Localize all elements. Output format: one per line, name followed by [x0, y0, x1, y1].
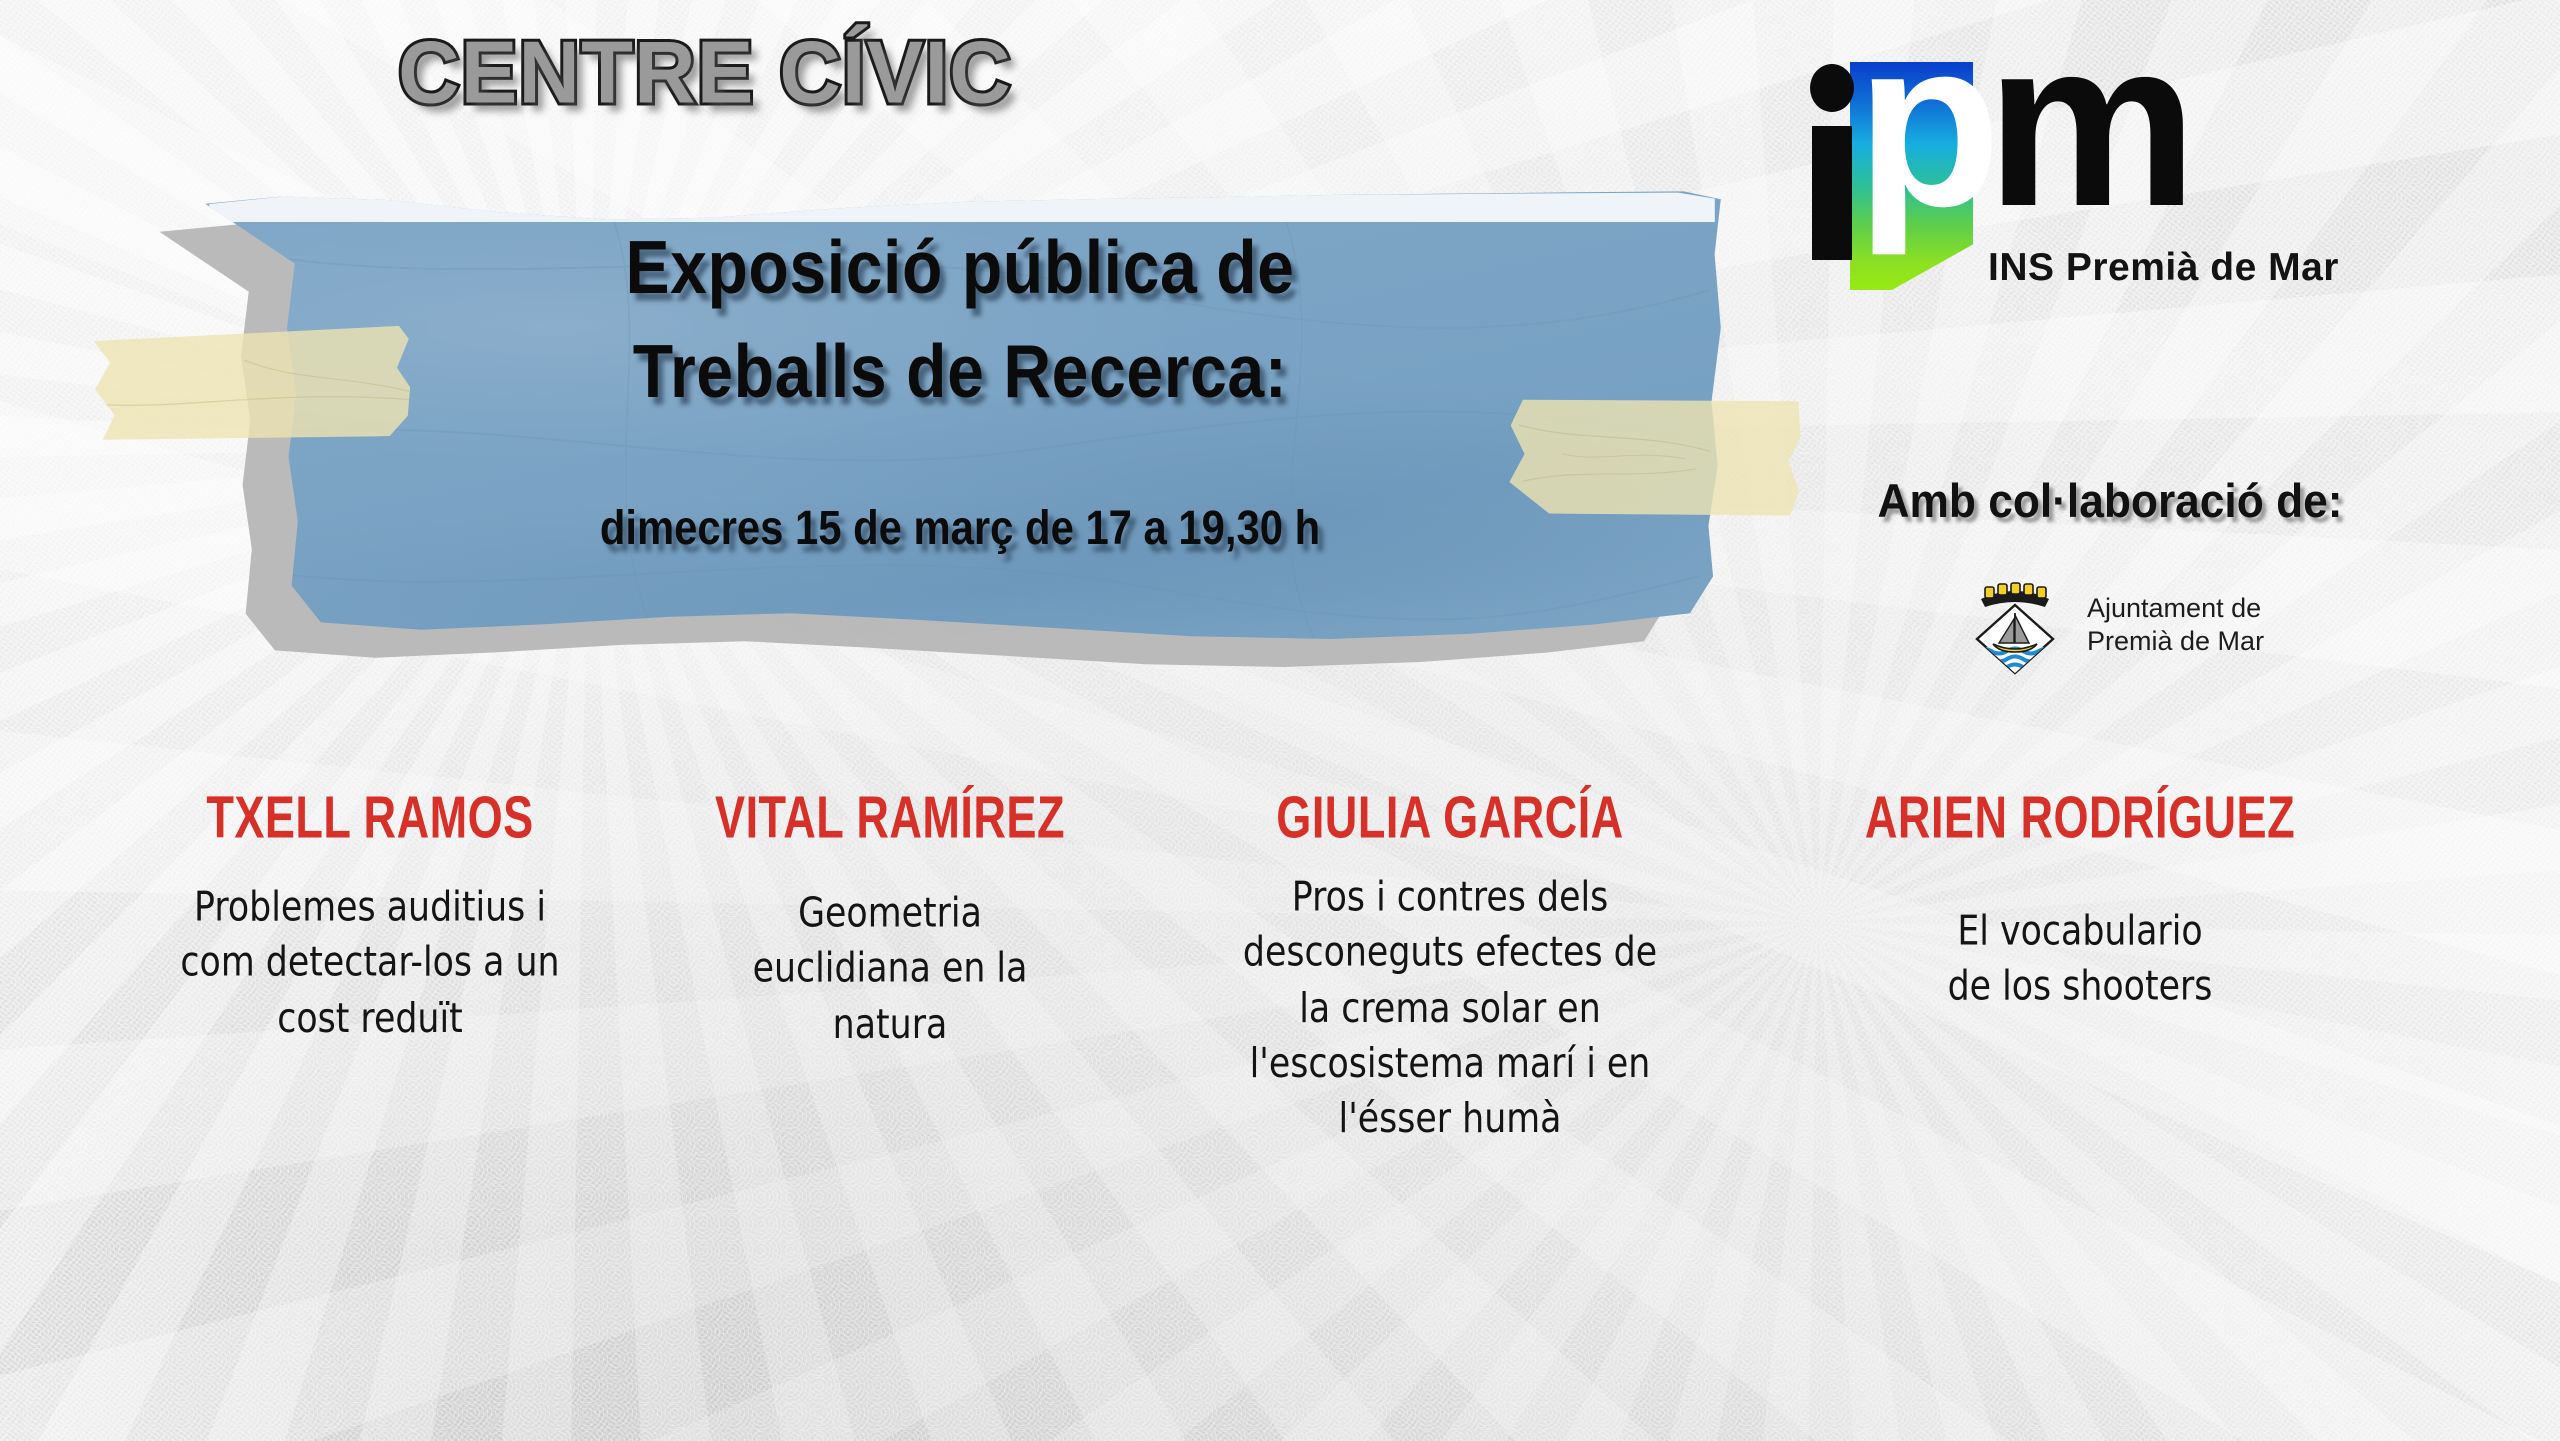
projects-list: TXELL RAMOS Problemes auditius i com det…: [90, 790, 2490, 1122]
ajuntament-label: Ajuntament de Premià de Mar: [2087, 592, 2264, 658]
project-title: El vocabulario de los shooters: [1789, 904, 2372, 1015]
project-author: VITAL RAMÍREZ: [669, 784, 1111, 852]
ajuntament-crest-icon: [1965, 573, 2065, 677]
ajuntament-logo: Ajuntament de Premià de Mar: [1965, 572, 2415, 678]
masking-tape-right: [1509, 395, 1802, 520]
ipm-logo-subtitle: INS Premià de Mar: [1988, 246, 2339, 290]
banner-text-block: Exposició pública de Treballs de Recerca…: [190, 190, 1730, 650]
project-author: TXELL RAMOS: [112, 784, 627, 852]
project-column: TXELL RAMOS Problemes auditius i com det…: [90, 790, 650, 1122]
project-column: ARIEN RODRÍGUEZ El vocabulario de los sh…: [1770, 790, 2390, 1122]
tape-texture-left: [94, 326, 412, 445]
project-column: GIULIA GARCÍA Pros i contres dels descon…: [1130, 790, 1770, 1122]
project-title: Geometria euclidiana en la natura: [664, 886, 1115, 1052]
ipm-letter-i-dot: [1810, 64, 1854, 112]
banner-line-1: Exposició pública de: [82, 224, 1838, 311]
ipm-logo: p m INS Premià de Mar: [1790, 40, 2410, 330]
project-title: Pros i contres dels desconeguts efectes …: [1149, 870, 1751, 1147]
project-column: VITAL RAMÍREZ Geometria euclidiana en la…: [650, 790, 1130, 1122]
project-author: GIULIA GARCÍA: [1156, 784, 1745, 852]
masking-tape-left: [94, 326, 412, 445]
project-author: ARIEN RODRÍGUEZ: [1795, 784, 2365, 852]
project-title: Problemes auditius i com detectar-los a …: [107, 880, 633, 1046]
page-title: CENTRE CÍVIC: [0, 23, 1537, 123]
collaboration-heading: Amb col·laboració de:: [1764, 474, 2455, 529]
ipm-letter-i-stem: [1812, 126, 1852, 260]
tape-texture-right: [1509, 395, 1802, 520]
